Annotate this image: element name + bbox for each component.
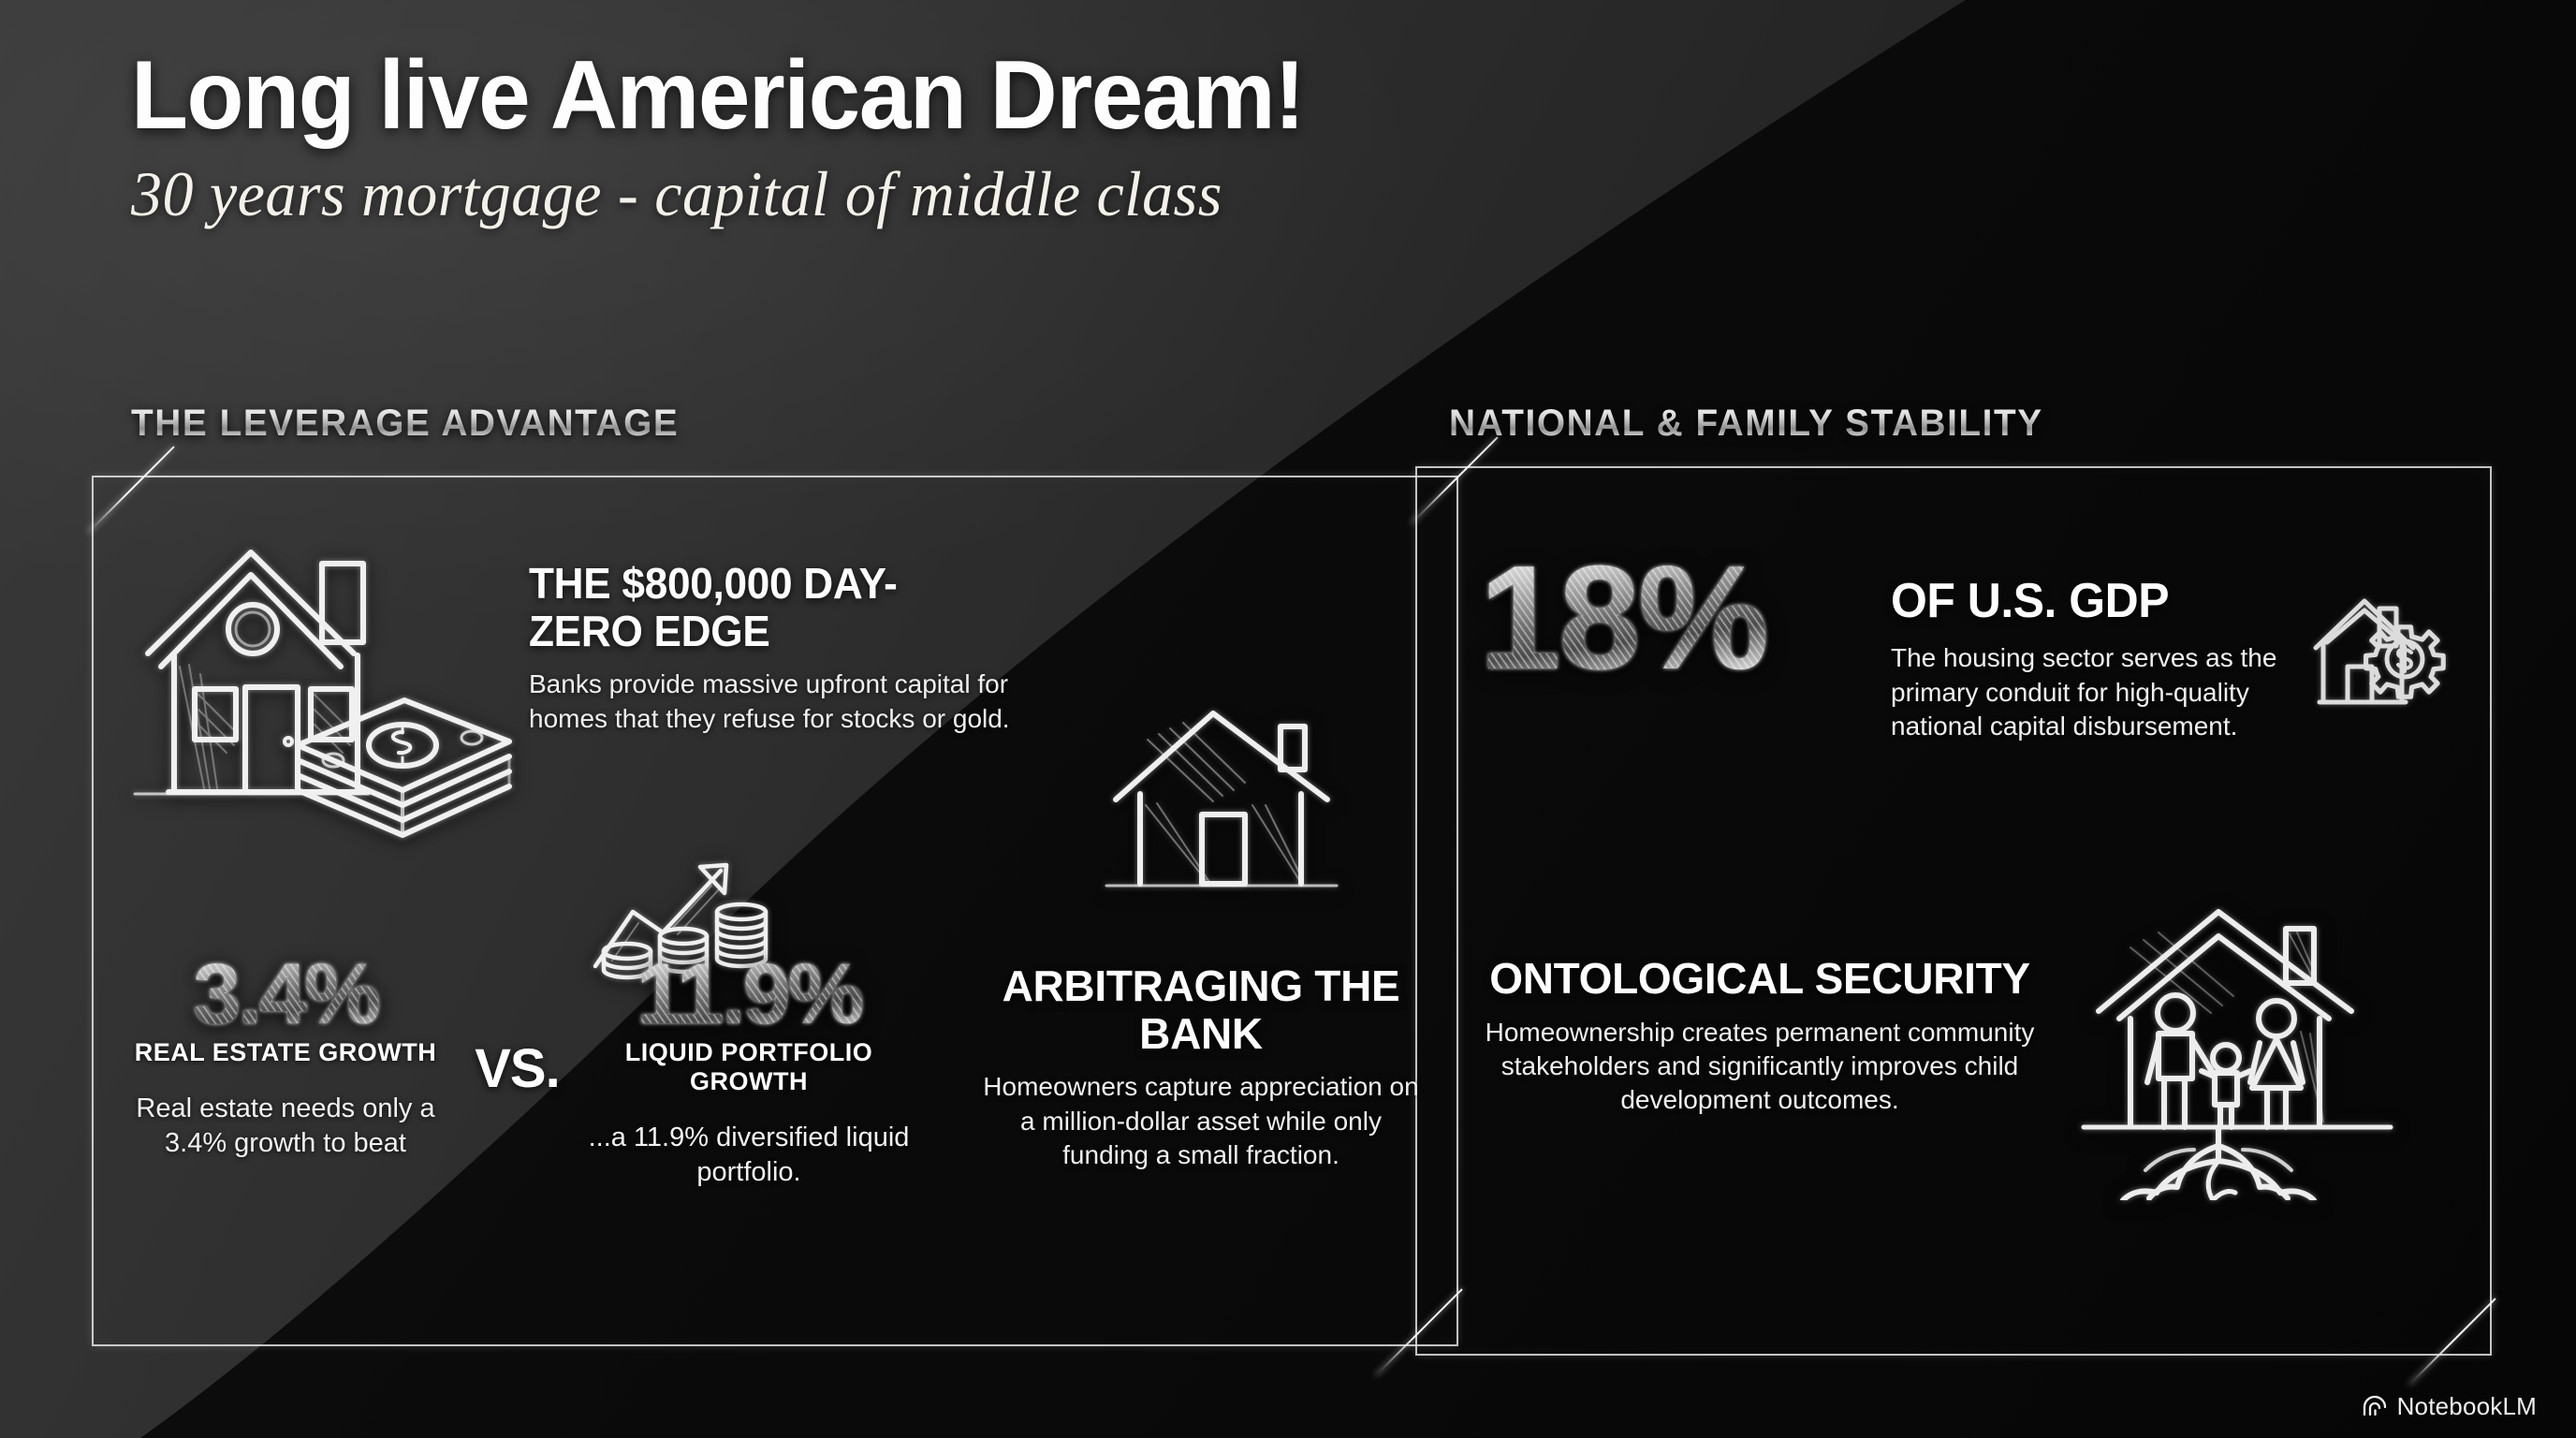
card-body: The housing sector serves as the primary… — [1891, 641, 2331, 743]
watermark: NotebookLM — [2362, 1392, 2537, 1421]
house-with-dollar-gear-icon — [2310, 562, 2497, 754]
stat-caption-real-estate: REAL ESTATE GROWTH — [112, 1038, 459, 1067]
card-title: OF U.S. GDP — [1891, 575, 2313, 628]
page-title: Long live American Dream! — [131, 45, 1304, 146]
comparison-real-estate: 3.4% REAL ESTATE GROWTH Real estate need… — [112, 955, 459, 1161]
house-sketch-icon — [1105, 702, 1339, 903]
card-title: ARBITRAGING THE BANK — [981, 962, 1421, 1057]
stat-description-liquid-portfolio: ...a 11.9% diversified liquid portfolio. — [576, 1121, 922, 1190]
stat-value-real-estate: 3.4% — [112, 955, 459, 1034]
poster-header: Long live American Dream! 30 years mortg… — [131, 45, 1353, 231]
stat-value-liquid-portfolio: 11.9% — [576, 955, 922, 1034]
house-with-cash-stack-icon — [131, 524, 515, 866]
watermark-label: NotebookLM — [2397, 1392, 2537, 1421]
family-house-roots-icon — [2078, 891, 2396, 1205]
card-title: ONTOLOGICAL SECURITY — [1479, 955, 2041, 1003]
page-subtitle: 30 years mortgage - capital of middle cl… — [131, 157, 1316, 231]
card-us-gdp-share: OF U.S. GDP The housing sector serves as… — [1891, 575, 2331, 743]
card-body: Homeowners capture appreciation on a mil… — [981, 1070, 1421, 1172]
notebooklm-spiral-icon — [2362, 1394, 2388, 1420]
stat-description-real-estate: Real estate needs only a 3.4% growth to … — [112, 1092, 459, 1161]
stat-caption-liquid-portfolio: LIQUID PORTFOLIO GROWTH — [576, 1038, 922, 1097]
comparison-group: 3.4% REAL ESTATE GROWTH Real estate need… — [112, 955, 955, 1190]
card-body: Banks provide massive upfront capital fo… — [529, 668, 1016, 736]
card-ontological-security: ONTOLOGICAL SECURITY Homeownership creat… — [1479, 955, 2041, 1118]
vs-label: VS. — [459, 955, 576, 1100]
card-arbitraging-the-bank: ARBITRAGING THE BANK Homeowners capture … — [981, 962, 1421, 1172]
card-title: THE $800,000 DAY-ZERO EDGE — [529, 560, 996, 654]
stat-value-gdp-share: 18% — [1479, 550, 1766, 686]
infographic-poster: Long live American Dream! 30 years mortg… — [0, 0, 2576, 1438]
comparison-liquid-portfolio: 11.9% LIQUID PORTFOLIO GROWTH ...a 11.9%… — [576, 955, 922, 1190]
card-day-zero-edge: THE $800,000 DAY-ZERO EDGE Banks provide… — [529, 560, 1016, 736]
section-heading-stability: NATIONAL & FAMILY STABILITY — [1449, 403, 2043, 445]
section-heading-leverage: THE LEVERAGE ADVANTAGE — [131, 403, 679, 445]
card-body: Homeownership creates permanent communit… — [1479, 1016, 2041, 1118]
